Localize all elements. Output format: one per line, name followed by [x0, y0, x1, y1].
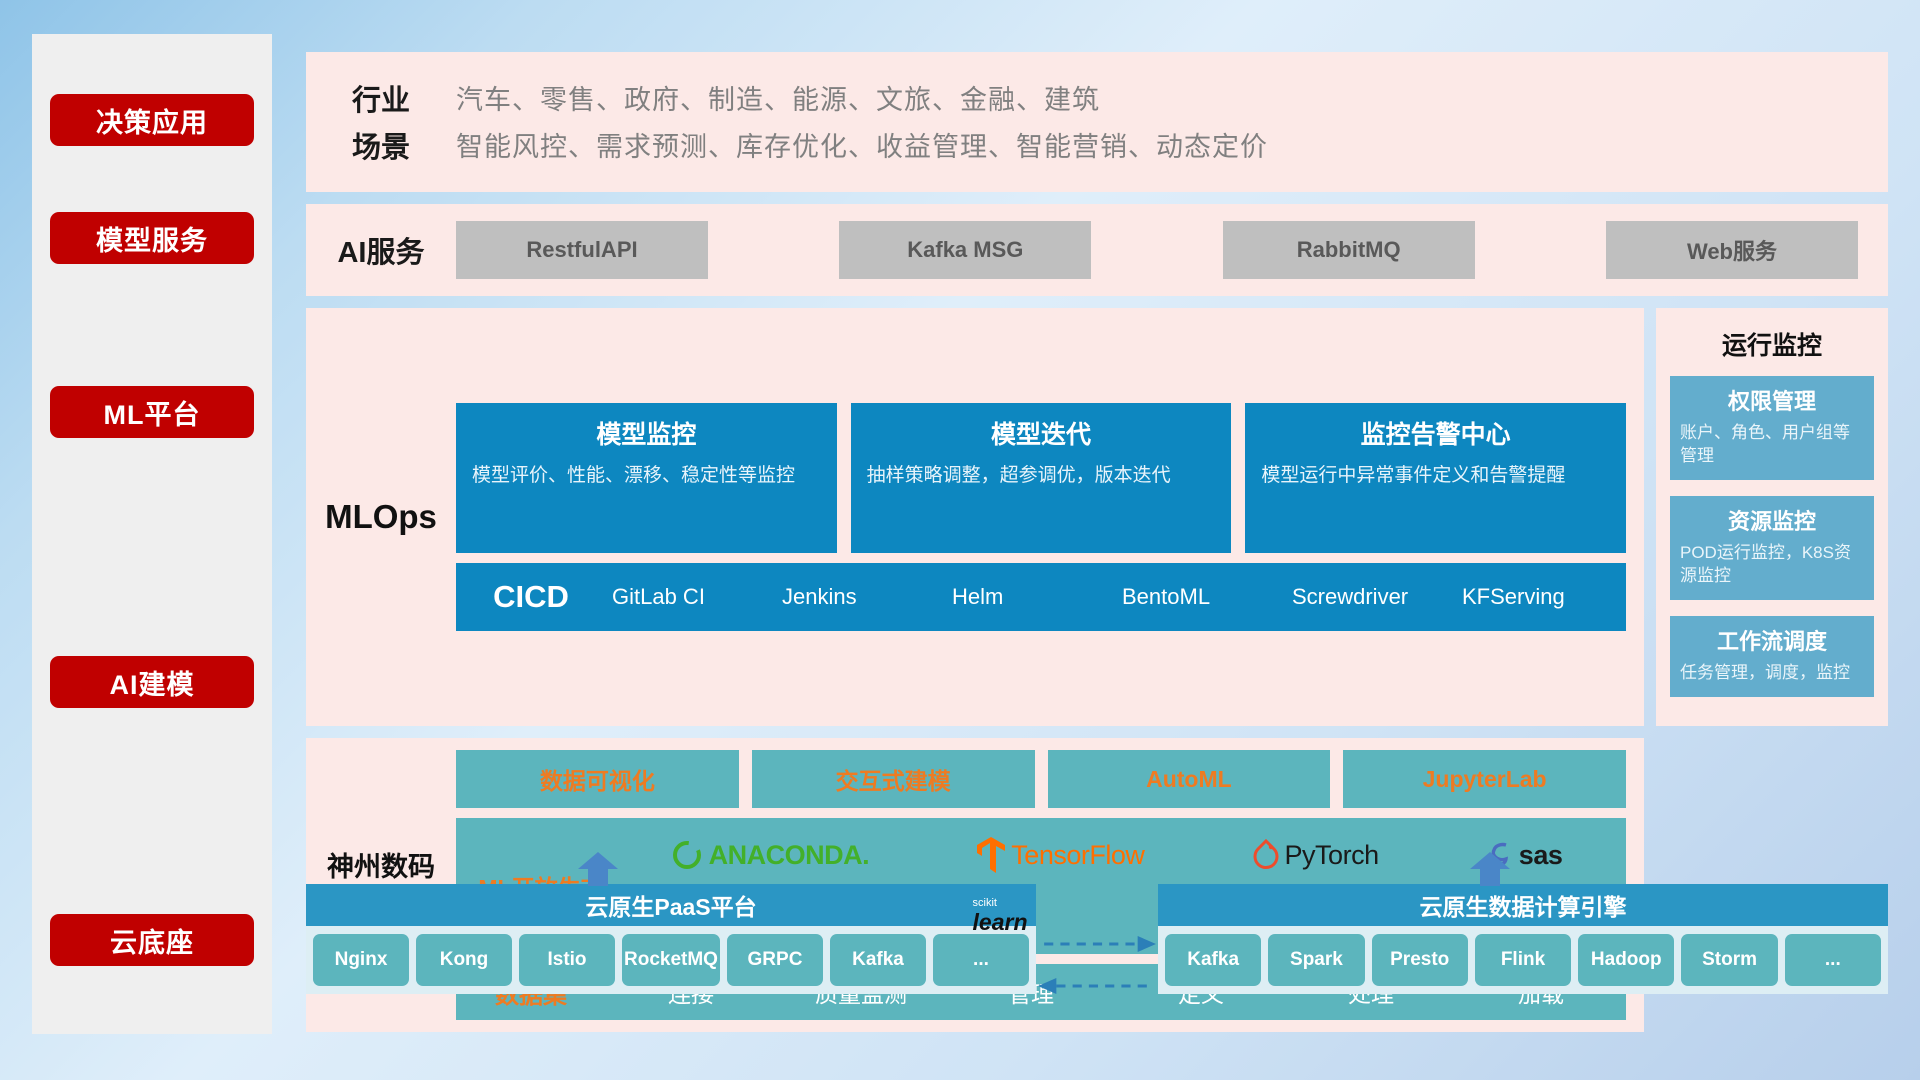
lab-tool-data-visualization[interactable]: 数据可视化 — [456, 750, 739, 808]
mlops-card-list: 模型监控 模型评价、性能、漂移、稳定性等监控 模型迭代 抽样策略调整，超参调优，… — [456, 403, 1626, 553]
monitor-card-title: 权限管理 — [1680, 384, 1864, 416]
ecosystem-logo-row-1: ANACONDA. TensorFlow — [616, 824, 1616, 886]
mlops-stack: 模型监控 模型评价、性能、漂移、稳定性等监控 模型迭代 抽样策略调整，超参调优，… — [456, 403, 1626, 631]
scenario-row: 场景 智能风控、需求预测、库存优化、收益管理、智能营销、动态定价 — [306, 121, 1888, 168]
cicd-title: CICD — [456, 579, 606, 615]
cicd-item-kfserving[interactable]: KFServing — [1456, 584, 1626, 609]
decision-app-band: 行业 汽车、零售、政府、制造、能源、文旅、金融、建筑 场景 智能风控、需求预测、… — [306, 52, 1888, 192]
runtime-monitor-panel: 运行监控 权限管理 账户、角色、用户组等管理 资源监控 POD运行监控，K8S资… — [1656, 308, 1888, 726]
data-engine-title: 云原生数据计算引擎 — [1158, 884, 1888, 926]
monitor-card-desc: 任务管理，调度，监控 — [1680, 662, 1864, 685]
mlops-panel: MLOps 模型监控 模型评价、性能、漂移、稳定性等监控 模型迭代 抽样策略调整… — [306, 308, 1644, 726]
engine-chip-storm[interactable]: Storm — [1681, 934, 1777, 986]
tensorflow-icon — [976, 836, 1006, 874]
cloud-connector-gap — [1036, 884, 1158, 1034]
sas-logo-text: sas — [1519, 840, 1563, 871]
ml-platform-band: MLOps 模型监控 模型评价、性能、漂移、稳定性等监控 模型迭代 抽样策略调整… — [306, 308, 1888, 726]
learn-text: learn — [973, 909, 1028, 935]
cicd-item-list: GitLab CI Jenkins Helm BentoML Screwdriv… — [606, 584, 1626, 609]
paas-chip-kong[interactable]: Kong — [416, 934, 512, 986]
monitor-card-title: 资源监控 — [1680, 504, 1864, 536]
paas-chip-grpc[interactable]: GRPC — [727, 934, 823, 986]
cicd-item-jenkins[interactable]: Jenkins — [776, 584, 946, 609]
arrow-head-left-icon — [1038, 978, 1056, 994]
arrow-head-right-icon — [1138, 936, 1156, 952]
paas-chip-more[interactable]: ... — [933, 934, 1029, 986]
cicd-item-helm[interactable]: Helm — [946, 584, 1116, 609]
industry-row: 行业 汽车、零售、政府、制造、能源、文旅、金融、建筑 — [306, 74, 1888, 121]
engine-chip-flink[interactable]: Flink — [1475, 934, 1571, 986]
mlops-card-desc: 模型运行中异常事件定义和告警提醒 — [1261, 463, 1610, 489]
ml-lab-label-line1: 神州数码 — [306, 851, 456, 885]
monitor-card-permission[interactable]: 权限管理 账户、角色、用户组等管理 — [1670, 376, 1874, 480]
tensorflow-logo-text: TensorFlow — [1011, 840, 1144, 871]
lab-tool-jupyterlab[interactable]: JupyterLab — [1343, 750, 1626, 808]
monitor-card-resource[interactable]: 资源监控 POD运行监控，K8S资源监控 — [1670, 496, 1874, 600]
left-rail: 决策应用 模型服务 ML平台 AI建模 云底座 — [32, 34, 272, 1034]
rail-item-decision-app[interactable]: 决策应用 — [50, 94, 254, 146]
paas-up-arrow-icon — [576, 852, 620, 886]
data-engine-chip-list: Kafka Spark Presto Flink Hadoop Storm ..… — [1158, 926, 1888, 994]
pytorch-logo-text: PyTorch — [1285, 840, 1379, 871]
monitor-card-workflow[interactable]: 工作流调度 任务管理，调度，监控 — [1670, 616, 1874, 697]
engine-chip-presto[interactable]: Presto — [1372, 934, 1468, 986]
lab-tool-list: 数据可视化 交互式建模 AutoML JupyterLab — [456, 750, 1626, 808]
cicd-item-screwdriver[interactable]: Screwdriver — [1286, 584, 1456, 609]
lab-tool-automl[interactable]: AutoML — [1048, 750, 1331, 808]
industry-value: 汽车、零售、政府、制造、能源、文旅、金融、建筑 — [456, 78, 1100, 117]
service-chip-restfulapi[interactable]: RestfulAPI — [456, 221, 708, 279]
pytorch-icon — [1252, 838, 1280, 872]
mlops-card-model-iteration[interactable]: 模型迭代 抽样策略调整，超参调优，版本迭代 — [851, 403, 1232, 553]
paas-chip-nginx[interactable]: Nginx — [313, 934, 409, 986]
data-engine-up-arrow-icon — [1468, 852, 1512, 886]
mlops-card-desc: 抽样策略调整，超参调优，版本迭代 — [867, 463, 1216, 489]
monitor-card-desc: POD运行监控，K8S资源监控 — [1680, 542, 1864, 588]
engine-chip-spark[interactable]: Spark — [1268, 934, 1364, 986]
mlops-label: MLOps — [306, 498, 456, 536]
scenario-label: 场景 — [306, 124, 456, 166]
ai-service-chip-list: RestfulAPI Kafka MSG RabbitMQ Web服务 — [456, 221, 1888, 279]
monitor-card-title: 工作流调度 — [1680, 624, 1864, 656]
cicd-item-bentoml[interactable]: BentoML — [1116, 584, 1286, 609]
cloud-base-section: 云原生PaaS平台 Nginx Kong Istio RocketMQ GRPC… — [306, 884, 1888, 1034]
monitor-card-desc: 账户、角色、用户组等管理 — [1680, 422, 1864, 468]
paas-title: 云原生PaaS平台 — [306, 884, 1036, 926]
service-chip-rabbitmq[interactable]: RabbitMQ — [1223, 221, 1475, 279]
pytorch-logo: PyTorch — [1252, 838, 1379, 872]
paas-chip-rocketmq[interactable]: RocketMQ — [622, 934, 720, 986]
cicd-item-gitlab-ci[interactable]: GitLab CI — [606, 584, 776, 609]
mlops-card-desc: 模型评价、性能、漂移、稳定性等监控 — [472, 463, 821, 489]
rail-item-model-service[interactable]: 模型服务 — [50, 212, 254, 264]
cloud-data-engine-block: 云原生数据计算引擎 Kafka Spark Presto Flink Hadoo… — [1158, 884, 1888, 1034]
paas-chip-list: Nginx Kong Istio RocketMQ GRPC Kafka ... — [306, 926, 1036, 994]
service-chip-kafka-msg[interactable]: Kafka MSG — [839, 221, 1091, 279]
ai-service-band: AI服务 RestfulAPI Kafka MSG RabbitMQ Web服务 — [306, 204, 1888, 296]
cloud-paas-block: 云原生PaaS平台 Nginx Kong Istio RocketMQ GRPC… — [306, 884, 1036, 1034]
lab-tool-interactive-modeling[interactable]: 交互式建模 — [752, 750, 1035, 808]
mlops-card-title: 模型监控 — [472, 415, 821, 451]
ai-service-label: AI服务 — [306, 229, 456, 271]
tensorflow-logo: TensorFlow — [976, 836, 1144, 874]
runtime-monitor-title: 运行监控 — [1670, 326, 1874, 362]
engine-chip-more[interactable]: ... — [1785, 934, 1881, 986]
bidirectional-dashed-arrows — [1036, 924, 1158, 1004]
cicd-bar: CICD GitLab CI Jenkins Helm BentoML Scre… — [456, 563, 1626, 631]
anaconda-icon — [670, 838, 704, 872]
industry-label: 行业 — [306, 77, 456, 119]
rail-item-ai-modeling[interactable]: AI建模 — [50, 656, 254, 708]
anaconda-logo: ANACONDA. — [670, 838, 870, 872]
rail-item-ml-platform[interactable]: ML平台 — [50, 386, 254, 438]
scikit-text: scikit — [973, 898, 1028, 909]
paas-chip-kafka[interactable]: Kafka — [830, 934, 926, 986]
mlops-card-alert-center[interactable]: 监控告警中心 模型运行中异常事件定义和告警提醒 — [1245, 403, 1626, 553]
paas-chip-istio[interactable]: Istio — [519, 934, 615, 986]
mlops-card-title: 模型迭代 — [867, 415, 1216, 451]
mlops-card-title: 监控告警中心 — [1261, 415, 1610, 451]
engine-chip-hadoop[interactable]: Hadoop — [1578, 934, 1674, 986]
service-chip-web[interactable]: Web服务 — [1606, 221, 1858, 279]
architecture-diagram: 决策应用 模型服务 ML平台 AI建模 云底座 行业 汽车、零售、政府、制造、能… — [0, 0, 1920, 1080]
engine-chip-kafka[interactable]: Kafka — [1165, 934, 1261, 986]
mlops-card-model-monitoring[interactable]: 模型监控 模型评价、性能、漂移、稳定性等监控 — [456, 403, 837, 553]
scenario-value: 智能风控、需求预测、库存优化、收益管理、智能营销、动态定价 — [456, 125, 1268, 164]
scikit-learn-wordmark: scikit learn — [973, 898, 1028, 936]
rail-item-cloud-base[interactable]: 云底座 — [50, 914, 254, 966]
anaconda-logo-text: ANACONDA. — [709, 840, 870, 871]
